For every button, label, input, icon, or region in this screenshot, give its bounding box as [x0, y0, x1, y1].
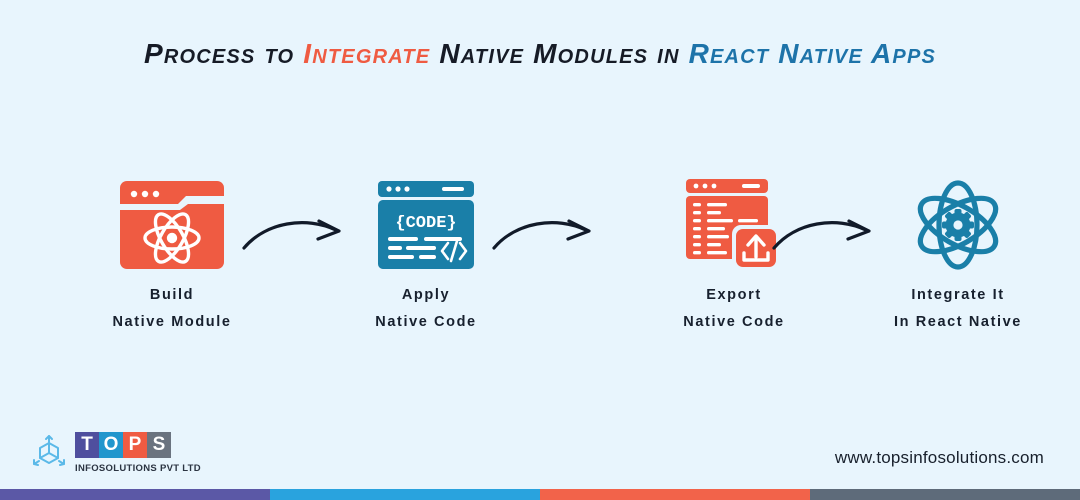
step-4-label-line1: Integrate It — [858, 282, 1058, 309]
step-4-label: Integrate It In React Native — [858, 282, 1058, 336]
title-part-native-modules-in: Native Modules in — [439, 38, 688, 69]
title-part-process-to: Process to — [144, 38, 303, 69]
title-part-react-native-apps: React Native Apps — [689, 38, 936, 69]
page-title: Process to Integrate Native Modules in R… — [0, 38, 1080, 70]
logo-tile-o: O — [99, 432, 123, 458]
website-url[interactable]: www.topsinfosolutions.com — [835, 448, 1044, 468]
step-1-label: Build Native Module — [72, 282, 272, 336]
curved-arrow-right-icon — [490, 208, 600, 258]
react-atom-gear-icon — [910, 177, 1006, 273]
bottom-color-bar — [0, 489, 1080, 500]
logo-tile-t: T — [75, 432, 99, 458]
arrow-step2-to-step3 — [490, 208, 600, 263]
cube-arrows-icon — [30, 433, 68, 476]
browser-react-atom-icon — [118, 179, 226, 271]
browser-code-window-icon: {CODE} — [376, 179, 476, 271]
brand-logo[interactable]: T O P S INFOSOLUTIONS PVT LTD — [30, 432, 201, 476]
title-part-integrate: Integrate — [303, 38, 439, 69]
code-export-upload-icon — [684, 177, 784, 273]
step-4-label-line2: In React Native — [858, 309, 1058, 336]
step-3-label-line1: Export — [634, 282, 834, 309]
logo-letter-tiles: T O P S — [75, 432, 201, 458]
infographic-canvas: Process to Integrate Native Modules in R… — [0, 0, 1080, 500]
step-2-label-line2: Native Code — [326, 309, 526, 336]
step-1-label-line1: Build — [72, 282, 272, 309]
logo-tile-s: S — [147, 432, 171, 458]
step-3-label: Export Native Code — [634, 282, 834, 336]
process-steps: Build Native Module {CODE} — [40, 170, 1040, 350]
bar-segment-blue — [270, 489, 540, 500]
step-4-icon-wrap — [858, 170, 1058, 280]
bar-segment-orange — [540, 489, 810, 500]
process-step-4: Integrate It In React Native — [858, 170, 1058, 336]
step-2-label: Apply Native Code — [326, 282, 526, 336]
step-2-icon-code-text: {CODE} — [395, 214, 456, 233]
logo-tile-p: P — [123, 432, 147, 458]
step-1-label-line2: Native Module — [72, 309, 272, 336]
bar-segment-gray — [810, 489, 1080, 500]
step-2-label-line1: Apply — [326, 282, 526, 309]
step-3-label-line2: Native Code — [634, 309, 834, 336]
logo-tagline: INFOSOLUTIONS PVT LTD — [75, 463, 201, 474]
logo-text-block: T O P S INFOSOLUTIONS PVT LTD — [75, 432, 201, 476]
bar-segment-purple — [0, 489, 270, 500]
